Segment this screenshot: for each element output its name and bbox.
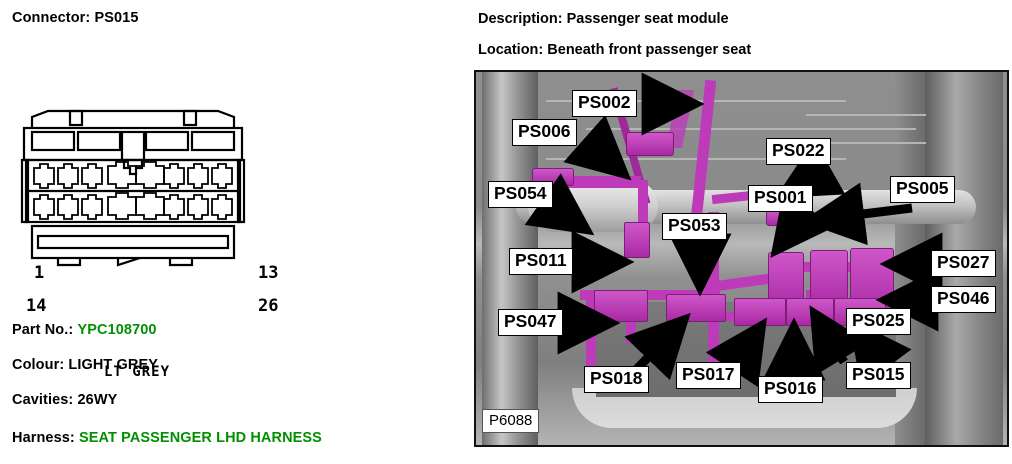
floor-seam-4 xyxy=(806,114,926,116)
callout-ps006[interactable]: PS006 xyxy=(512,119,577,146)
connector-title: Connector: PS015 xyxy=(12,10,139,26)
pin-number-26: 26 xyxy=(258,296,278,316)
connector-block-ps017 xyxy=(734,298,786,326)
description-label: Description: xyxy=(478,11,563,27)
location-row: Location: Beneath front passenger seat xyxy=(478,42,751,58)
callout-ps011[interactable]: PS011 xyxy=(509,248,573,275)
callout-ps002[interactable]: PS002 xyxy=(572,90,637,117)
callout-ps001[interactable]: PS001 xyxy=(748,185,813,212)
part-number-value: YPC108700 xyxy=(77,322,156,338)
connector-block-ps005 xyxy=(766,210,812,226)
connector-info-page: Connector: PS015 xyxy=(0,0,1012,464)
harness-drop-ps011 xyxy=(638,180,648,228)
cavities-label: Cavities: xyxy=(12,392,73,408)
colour-label: Colour: xyxy=(12,357,64,373)
connector-block-ps018 xyxy=(666,294,726,322)
callout-ps022[interactable]: PS022 xyxy=(766,138,831,165)
part-number-label: Part No.: xyxy=(12,322,73,338)
callout-ps047[interactable]: PS047 xyxy=(498,309,563,336)
callout-ps027[interactable]: PS027 xyxy=(931,250,996,277)
pin-number-13: 13 xyxy=(258,263,278,283)
colour-value: LIGHT GREY xyxy=(68,357,158,373)
callout-ps046[interactable]: PS046 xyxy=(931,286,996,313)
floor-seam-2 xyxy=(586,128,916,130)
callout-ps018[interactable]: PS018 xyxy=(584,366,649,393)
cavities-value: 26WY xyxy=(77,392,117,408)
connector-pinout-diagram: 1 14 13 26 LT GREY xyxy=(18,108,248,268)
callout-ps016[interactable]: PS016 xyxy=(758,376,823,403)
cavities-row: Cavities: 26WY xyxy=(12,392,117,408)
colour-row: Colour: LIGHT GREY xyxy=(12,357,158,373)
callout-ps017[interactable]: PS017 xyxy=(676,362,741,389)
harness-value: SEAT PASSENGER LHD HARNESS xyxy=(79,430,322,446)
photo-caption: P6088 xyxy=(482,409,539,433)
callout-ps053[interactable]: PS053 xyxy=(662,213,727,240)
connector-block-ps011 xyxy=(624,222,650,258)
callout-ps005[interactable]: PS005 xyxy=(890,176,955,203)
connector-block-ps016 xyxy=(786,298,834,326)
harness-row: Harness: SEAT PASSENGER LHD HARNESS xyxy=(12,430,322,446)
connector-face-drawing xyxy=(18,108,248,268)
connector-block-ps047 xyxy=(594,290,648,322)
callout-ps054[interactable]: PS054 xyxy=(488,181,553,208)
pin-number-1: 1 xyxy=(34,263,44,283)
seat-module-photo: PS002 PS006 PS022 PS054 PS001 PS005 PS05… xyxy=(474,70,1009,447)
part-number-row: Part No.: YPC108700 xyxy=(12,322,157,338)
photo-canvas: PS002 PS006 PS022 PS054 PS001 PS005 PS05… xyxy=(476,72,1007,445)
description-row: Description: Passenger seat module xyxy=(478,11,729,27)
location-value: Beneath front passenger seat xyxy=(547,42,751,58)
callout-ps025[interactable]: PS025 xyxy=(846,308,911,335)
pin-number-14: 14 xyxy=(26,296,46,316)
callout-ps015[interactable]: PS015 xyxy=(846,362,911,389)
location-label: Location: xyxy=(478,42,543,58)
harness-label: Harness: xyxy=(12,430,75,446)
connector-block-ps006 xyxy=(626,132,674,156)
description-value: Passenger seat module xyxy=(567,11,729,27)
